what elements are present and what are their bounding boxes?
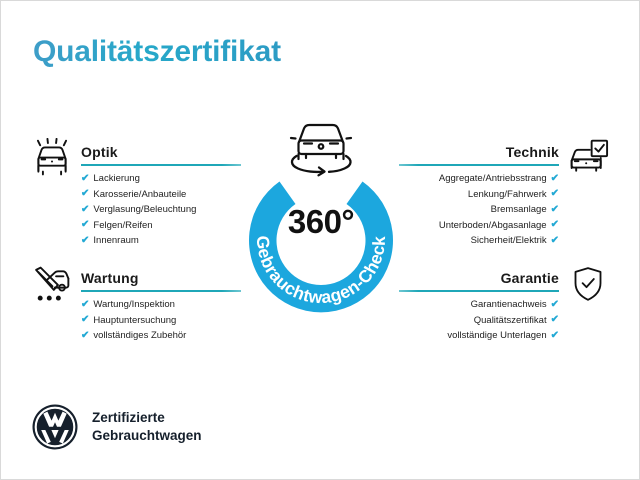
section-heading: Garantie — [399, 269, 559, 287]
check-icon: ✔ — [81, 331, 89, 341]
section-divider — [399, 164, 559, 166]
shield-check-icon — [565, 263, 611, 305]
check-icon: ✔ — [551, 189, 559, 199]
page-title: Qualitätszertifikat — [33, 35, 281, 69]
check-icon: ✔ — [81, 205, 89, 215]
list-item: ✔Unterboden/Abgasanlage — [399, 218, 559, 234]
check-icon: ✔ — [551, 174, 559, 184]
brand-line-2: Gebrauchtwagen — [92, 427, 202, 445]
check-icon: ✔ — [551, 205, 559, 215]
check-icon: ✔ — [551, 315, 559, 325]
section-garantie: Garantie ✔Garantienachweis ✔Qualitätszer… — [399, 263, 615, 363]
check-icon: ✔ — [551, 331, 559, 341]
checklist-garantie: ✔Garantienachweis ✔Qualitätszertifikat ✔… — [399, 297, 559, 344]
car-checkbox-icon — [565, 137, 611, 179]
section-divider — [81, 290, 241, 292]
section-header-garantie: Garantie — [399, 269, 559, 292]
check-icon: ✔ — [551, 220, 559, 230]
list-item: ✔Innenraum — [81, 233, 241, 249]
list-item: ✔Bremsanlage — [399, 202, 559, 218]
section-wartung: Wartung ✔Wartung/Inspektion ✔Hauptunters… — [25, 263, 241, 363]
list-item: ✔Aggregate/Antriebsstrang — [399, 171, 559, 187]
list-item: ✔Karosserie/Anbauteile — [81, 187, 241, 203]
vw-logo — [31, 403, 79, 451]
badge-degree-label: 360° — [233, 203, 409, 241]
check-icon: ✔ — [81, 174, 89, 184]
car-service-pencil-icon — [29, 263, 75, 305]
section-heading: Technik — [399, 143, 559, 161]
section-divider — [399, 290, 559, 292]
check-icon: ✔ — [81, 315, 89, 325]
list-item: ✔vollständiges Zubehör — [81, 328, 241, 344]
brand-text: Zertifizierte Gebrauchtwagen — [92, 409, 202, 445]
check-icon: ✔ — [81, 236, 89, 246]
check-icon: ✔ — [81, 300, 89, 310]
section-header-wartung: Wartung — [81, 269, 241, 292]
section-header-optik: Optik — [81, 143, 241, 166]
list-item: ✔Sicherheit/Elektrik — [399, 233, 559, 249]
section-header-technik: Technik — [399, 143, 559, 166]
checklist-optik: ✔Lackierung ✔Karosserie/Anbauteile ✔Verg… — [81, 171, 241, 249]
list-item: ✔Verglasung/Beleuchtung — [81, 202, 241, 218]
checklist-wartung: ✔Wartung/Inspektion ✔Hauptuntersuchung ✔… — [81, 297, 241, 344]
certificate-page: Qualitätszertifikat Optik ✔Lackierung ✔K… — [0, 0, 640, 480]
check-icon: ✔ — [81, 220, 89, 230]
list-item: ✔Lenkung/Fahrwerk — [399, 187, 559, 203]
badge-curved-label: Gebrauchtwagen-Check — [253, 235, 389, 307]
car-shine-icon — [29, 137, 75, 179]
car-rotate-icon — [278, 116, 364, 178]
brand-line-1: Zertifizierte — [92, 409, 202, 427]
check-icon: ✔ — [81, 189, 89, 199]
section-technik: Technik ✔Aggregate/Antriebsstrang ✔Lenku… — [399, 137, 615, 257]
section-divider — [81, 164, 241, 166]
svg-text:Gebrauchtwagen-Check: Gebrauchtwagen-Check — [253, 235, 389, 307]
list-item: ✔Wartung/Inspektion — [81, 297, 241, 313]
section-heading: Optik — [81, 143, 241, 161]
list-item: ✔Garantienachweis — [399, 297, 559, 313]
section-optik: Optik ✔Lackierung ✔Karosserie/Anbauteile… — [25, 137, 241, 257]
section-heading: Wartung — [81, 269, 241, 287]
check-icon: ✔ — [551, 300, 559, 310]
list-item: ✔Felgen/Reifen — [81, 218, 241, 234]
list-item: ✔Hauptuntersuchung — [81, 313, 241, 329]
footer-brand: Zertifizierte Gebrauchtwagen — [31, 403, 202, 451]
check-icon: ✔ — [551, 236, 559, 246]
list-item: ✔Lackierung — [81, 171, 241, 187]
checklist-technik: ✔Aggregate/Antriebsstrang ✔Lenkung/Fahrw… — [399, 171, 559, 249]
list-item: ✔vollständige Unterlagen — [399, 328, 559, 344]
list-item: ✔Qualitätszertifikat — [399, 313, 559, 329]
